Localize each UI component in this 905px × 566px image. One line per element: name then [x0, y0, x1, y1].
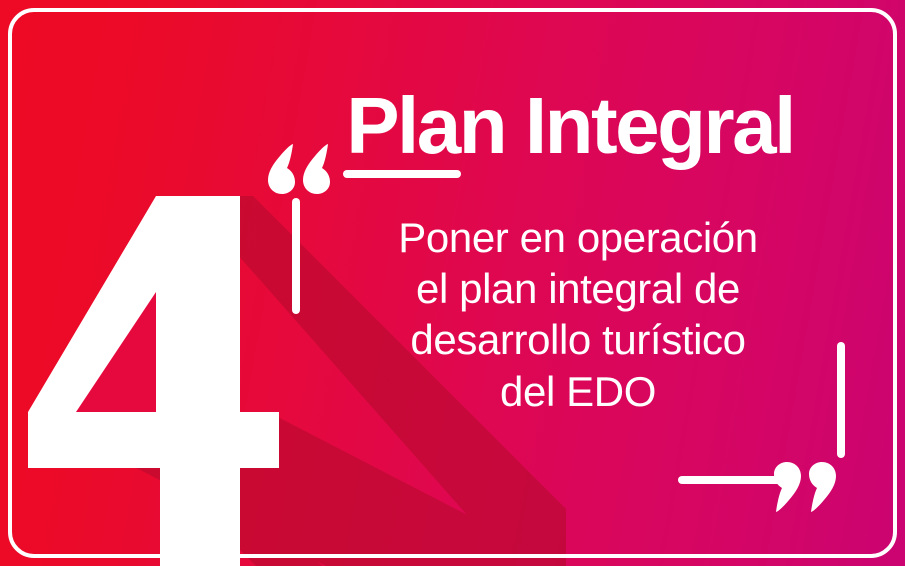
stem-top — [292, 198, 300, 314]
quote-close-icon — [770, 462, 842, 514]
stem-bottom — [837, 342, 845, 458]
page-title: Plan Integral — [260, 86, 880, 166]
rule-top — [343, 170, 461, 178]
quote-line: desarrollo turístico — [318, 314, 838, 365]
step-number — [14, 196, 314, 566]
quote-line: el plan integral de — [318, 263, 838, 314]
slide-card: Plan Integral Poner en operación el plan… — [0, 0, 905, 566]
quote-line: del EDO — [318, 366, 838, 417]
quote-line: Poner en operación — [318, 212, 838, 263]
quote-text: Poner en operación el plan integral de d… — [318, 212, 838, 417]
